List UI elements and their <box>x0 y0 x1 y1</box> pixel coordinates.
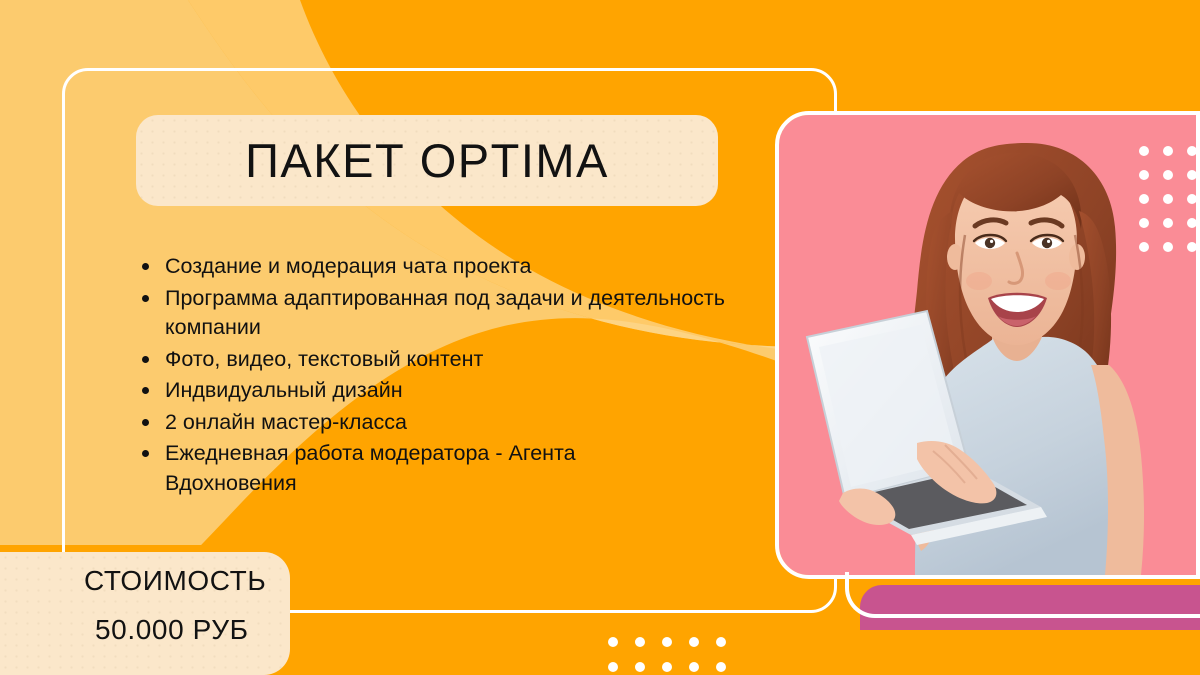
list-item: Программа адаптированная под задачи и де… <box>138 284 738 343</box>
dot-grid-bottom <box>608 637 743 675</box>
list-item-line: Ежедневная работа модератора - Агента <box>165 439 738 469</box>
list-item: Фото, видео, текстовый контент <box>138 345 738 375</box>
bullet-dot-icon <box>142 295 149 302</box>
bullet-dot-icon <box>142 419 149 426</box>
price-pill: СТОИМОСТЬ 50.000 РУБ <box>0 552 290 675</box>
list-item-label: Фото, видео, текстовый контент <box>165 345 738 375</box>
list-item-label: 2 онлайн мастер-класса <box>165 408 738 438</box>
cheek-right <box>1045 272 1071 290</box>
list-item-label: Ежедневная работа модератора - Агента Вд… <box>165 439 738 498</box>
bullet-dot-icon <box>142 387 149 394</box>
list-item-label: Программа адаптированная под задачи и де… <box>165 284 738 343</box>
list-item-label: Индвидуальный дизайн <box>165 376 738 406</box>
list-item-line: Вдохновения <box>165 469 738 499</box>
bullet-dot-icon <box>142 356 149 363</box>
photo-illustration <box>779 115 1200 575</box>
list-item: Индвидуальный дизайн <box>138 376 738 406</box>
magenta-accent-band <box>860 585 1200 630</box>
feature-list: Создание и модерация чата проекта Програ… <box>138 252 738 500</box>
page-title: ПАКЕТ OPTIMA <box>245 133 609 188</box>
slide-root: ПАКЕТ OPTIMA Создание и модерация чата п… <box>0 0 1200 675</box>
price-value: 50.000 РУБ <box>95 614 249 646</box>
price-label: СТОИМОСТЬ <box>84 565 266 597</box>
list-item: Создание и модерация чата проекта <box>138 252 738 282</box>
bullet-dot-icon <box>142 450 149 457</box>
cheek-left <box>966 272 992 290</box>
dot-grid-pink <box>1139 146 1200 266</box>
bullet-dot-icon <box>142 263 149 270</box>
list-item: 2 онлайн мастер-класса <box>138 408 738 438</box>
list-item: Ежедневная работа модератора - Агента Вд… <box>138 439 738 498</box>
photo-panel <box>779 115 1200 575</box>
list-item-label: Создание и модерация чата проекта <box>165 252 738 282</box>
title-pill: ПАКЕТ OPTIMA <box>136 115 718 206</box>
